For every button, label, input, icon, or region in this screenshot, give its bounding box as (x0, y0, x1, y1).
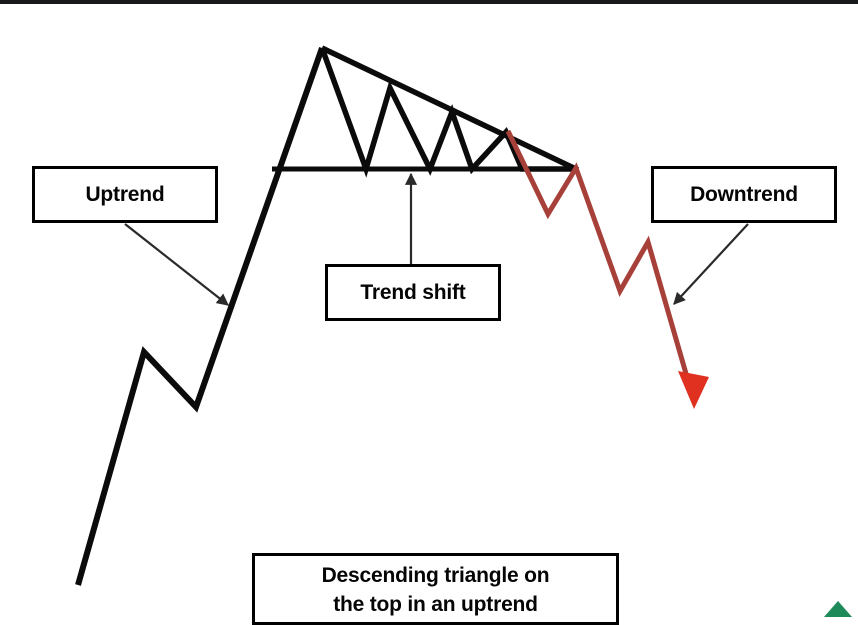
uptrend-price-line (78, 48, 322, 585)
caption-line-2: the top in an uptrend (255, 590, 616, 619)
annotation-label-uptrend: Uptrend (32, 166, 218, 223)
green-triangle-up-icon (824, 601, 852, 617)
trend-shift-label-text: Trend shift (360, 281, 465, 305)
uptrend-label-text: Uptrend (85, 183, 164, 207)
uptrend-polyline (78, 48, 322, 585)
downtrend-annotation-arrow (674, 224, 748, 304)
diagram-canvas: Uptrend Trend shift Downtrend Descending… (0, 0, 858, 616)
caption-line-1: Descending triangle on (255, 561, 616, 590)
downtrend-label-text: Downtrend (690, 183, 798, 207)
uptrend-annotation-arrow (125, 224, 228, 305)
chart-caption-box: Descending triangle on the top in an upt… (252, 553, 619, 625)
downtrend-arrowhead-icon (678, 371, 709, 409)
annotation-label-trend-shift: Trend shift (325, 264, 501, 321)
annotation-label-downtrend: Downtrend (651, 166, 837, 223)
